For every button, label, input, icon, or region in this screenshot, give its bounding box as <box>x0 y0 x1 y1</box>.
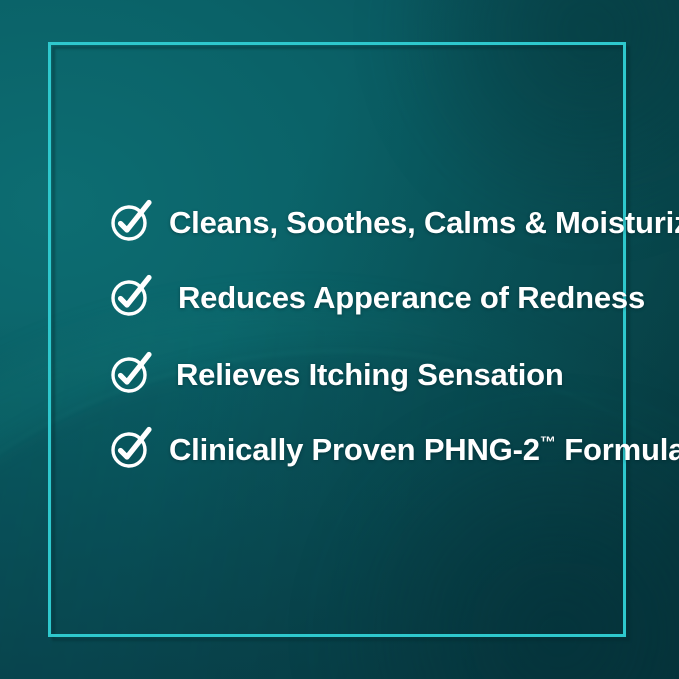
feature-label: Clinically Proven PHNG-2™ Formula <box>169 434 679 465</box>
check-circle-icon <box>108 273 154 319</box>
feature-item-reduces-apperance-of-redness: Reduces Apperance of Redness <box>108 273 645 319</box>
feature-list: Cleans, Soothes, Calms & Moisturizes Red… <box>0 0 679 679</box>
feature-item-cleans-soothes-calms-moisturizes: Cleans, Soothes, Calms & Moisturizes <box>108 198 679 244</box>
product-benefits-panel: Cleans, Soothes, Calms & Moisturizes Red… <box>0 0 679 679</box>
feature-label-main: Clinically Proven PHNG-2 <box>169 432 540 467</box>
check-circle-icon <box>108 350 154 396</box>
trademark-symbol: ™ <box>540 433 556 451</box>
check-circle-icon <box>108 198 154 244</box>
feature-label: Cleans, Soothes, Calms & Moisturizes <box>169 207 679 238</box>
feature-item-clinically-proven-phng-2-formula: Clinically Proven PHNG-2™ Formula <box>108 425 679 471</box>
check-circle-icon <box>108 425 154 471</box>
feature-label-suffix: Formula <box>556 432 679 467</box>
feature-label: Relieves Itching Sensation <box>176 359 564 390</box>
feature-label: Reduces Apperance of Redness <box>178 282 645 313</box>
feature-item-relieves-itching-sensation: Relieves Itching Sensation <box>108 350 564 396</box>
